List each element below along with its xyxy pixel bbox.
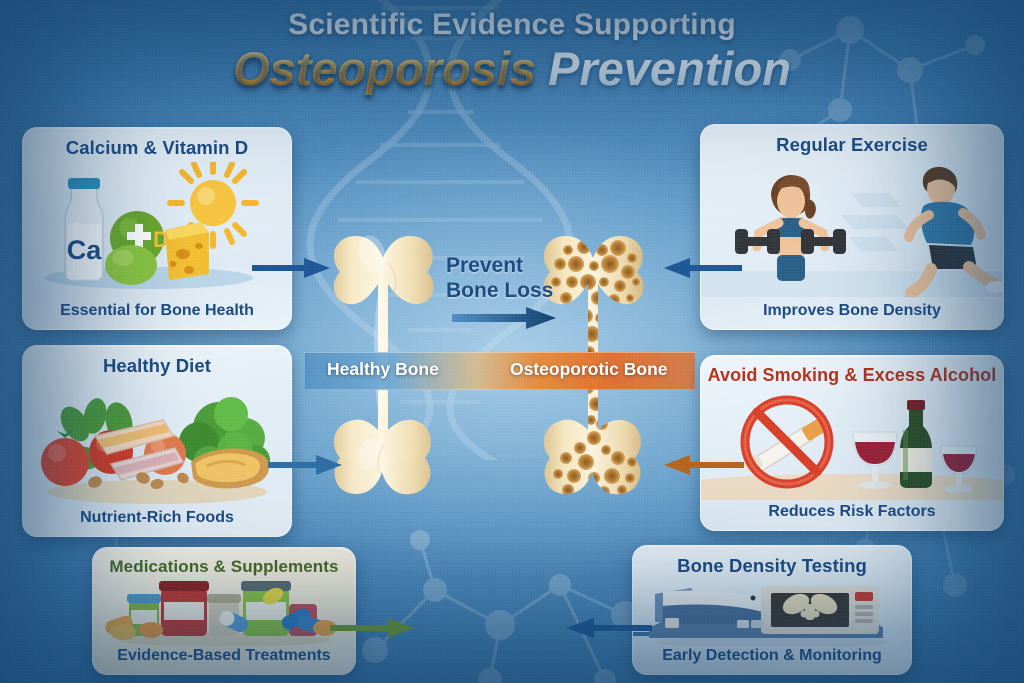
healthy-diet-illustration [23, 380, 291, 505]
card-meds-caption: Evidence-Based Treatments [93, 647, 355, 665]
card-calcium-caption: Essential for Bone Health [23, 302, 291, 320]
center-caption-line1: Prevent [446, 253, 576, 278]
medications-illustration [93, 578, 355, 646]
card-diet-caption: Nutrient-Rich Foods [23, 509, 291, 527]
card-healthy-diet[interactable]: Healthy Diet [22, 345, 292, 537]
cheese-wedge-icon [165, 222, 209, 280]
no-smoking-icon [743, 400, 829, 484]
dexa-scanner-illustration [633, 576, 911, 646]
motion-chevron-icon [841, 193, 909, 251]
avoid-illustration [701, 390, 1003, 500]
exercise-illustration [701, 159, 1003, 297]
header: Scientific Evidence Supporting Osteoporo… [0, 8, 1024, 95]
arrow-diet-to-bone [268, 452, 342, 478]
center-caption: Prevent Bone Loss [446, 253, 576, 303]
bread-icon [191, 448, 269, 488]
card-diet-title: Healthy Diet [23, 355, 291, 377]
milk-bottle-icon: Ca [65, 178, 103, 281]
card-calcium-title: Calcium & Vitamin D [23, 137, 291, 159]
card-meds-title: Medications & Supplements [93, 557, 355, 577]
bone-comparison-band: Healthy Bone Osteoporotic Bone [305, 352, 695, 390]
card-avoid-title: Avoid Smoking & Excess Alcohol [701, 365, 1003, 386]
card-diet-art [23, 380, 291, 504]
header-subtitle: Scientific Evidence Supporting [0, 8, 1024, 42]
header-title-word-osteoporosis: Osteoporosis [233, 42, 536, 95]
card-testing-caption: Early Detection & Monitoring [633, 647, 911, 665]
lime-fruit-icon [105, 245, 157, 285]
infographic-canvas: Scientific Evidence Supporting Osteoporo… [0, 0, 1024, 683]
card-medications-supplements[interactable]: Medications & Supplements [92, 547, 356, 675]
wine-bottle-icon [900, 400, 932, 488]
card-avoid-art [701, 390, 1003, 498]
arrow-calcium-to-bone [252, 255, 330, 281]
center-caption-line2: Bone Loss [446, 278, 576, 303]
band-label-healthy: Healthy Bone [327, 359, 439, 380]
calcium-illustration: Ca D [23, 162, 291, 297]
header-title-word-prevention: Prevention [548, 42, 791, 95]
card-exercise-art [701, 159, 1003, 297]
card-bone-density-testing[interactable]: Bone Density Testing [632, 545, 912, 675]
card-calcium-art: Ca D [23, 162, 291, 297]
card-meds-art [93, 578, 355, 646]
card-avoid-smoking-alcohol[interactable]: Avoid Smoking & Excess Alcohol [700, 355, 1004, 531]
card-regular-exercise[interactable]: Regular Exercise [700, 124, 1004, 330]
arrow-exercise-to-bone [664, 255, 742, 281]
arrow-testing-to-bone [566, 615, 652, 641]
card-calcium-vitamin-d[interactable]: Calcium & Vitamin D [22, 127, 292, 330]
card-testing-title: Bone Density Testing [633, 555, 911, 577]
band-label-osteoporotic: Osteoporotic Bone [510, 359, 668, 380]
arrow-meds-to-bone [330, 615, 414, 641]
woman-lifting-dumbbells-icon [735, 175, 846, 281]
card-testing-art [633, 576, 911, 646]
card-avoid-caption: Reduces Risk Factors [701, 503, 1003, 521]
calcium-ca-label: Ca [67, 235, 102, 265]
header-title: OsteoporosisPrevention [0, 44, 1024, 95]
center-arrow-icon [452, 305, 556, 331]
arrow-avoid-to-bone [664, 452, 744, 478]
card-exercise-caption: Improves Bone Density [701, 302, 1003, 320]
card-exercise-title: Regular Exercise [701, 134, 1003, 156]
